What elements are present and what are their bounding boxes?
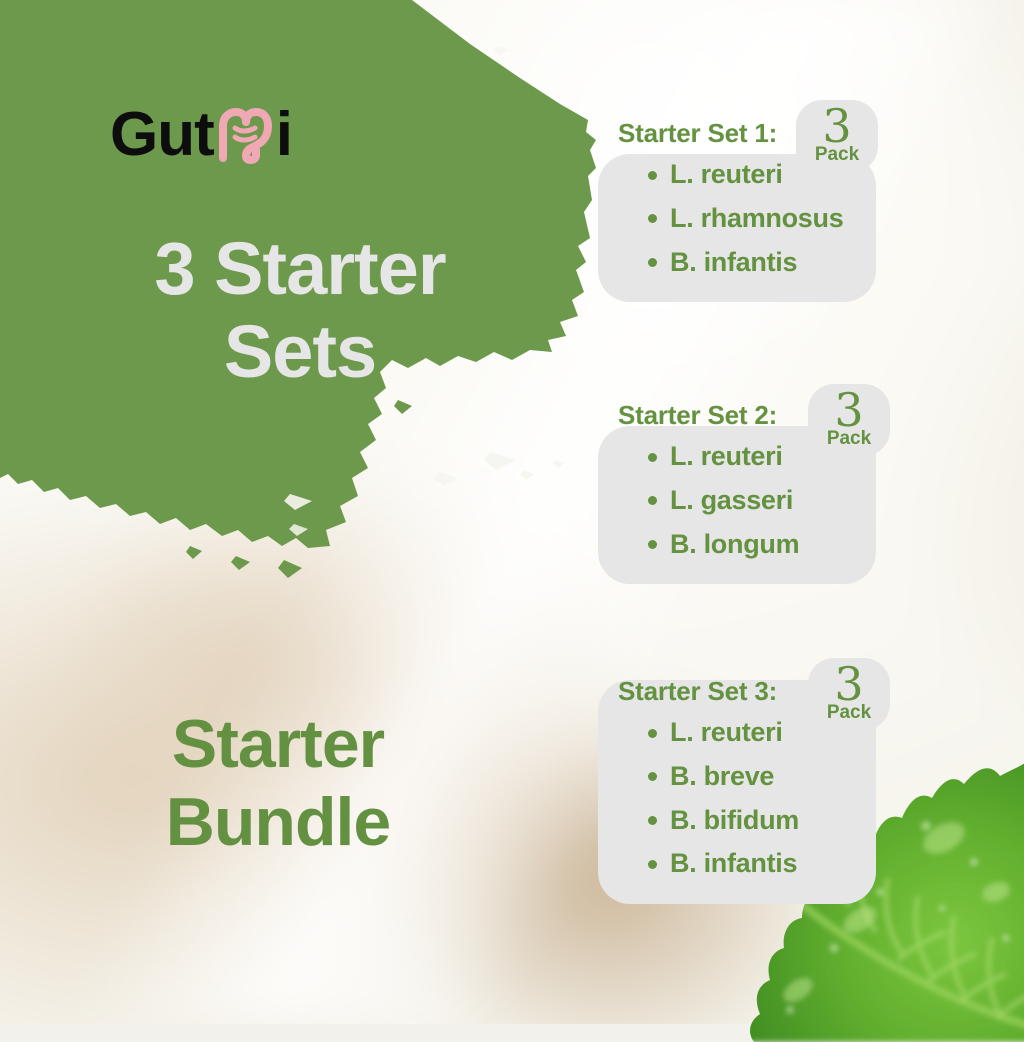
bullet-icon bbox=[648, 214, 657, 223]
bundle-headline: Starter Bundle bbox=[38, 706, 518, 861]
strain-name: B. bifidum bbox=[670, 799, 799, 843]
pack-badge: 3 Pack bbox=[808, 384, 890, 456]
pack-badge-label: Pack bbox=[808, 703, 890, 724]
hero-headline: 3 Starter Sets bbox=[40, 228, 560, 394]
bullet-icon bbox=[648, 860, 657, 869]
strain-name: L. rhamnosus bbox=[670, 197, 843, 241]
list-item: B. infantis bbox=[614, 241, 860, 285]
pack-badge-label: Pack bbox=[808, 429, 890, 450]
bullet-icon bbox=[648, 453, 657, 462]
strain-name: B. infantis bbox=[670, 241, 797, 285]
bullet-icon bbox=[648, 729, 657, 738]
hero-line-2: Sets bbox=[40, 311, 560, 394]
starter-set-card[interactable]: 3 Pack Starter Set 3: L. reuteri B. brev… bbox=[598, 660, 876, 904]
starter-set-card[interactable]: 3 Pack Starter Set 1: L. reuteri L. rham… bbox=[598, 106, 876, 302]
strain-list: L. reuteri B. breve B. bifidum B. infant… bbox=[614, 711, 860, 886]
intestine-icon bbox=[215, 106, 275, 164]
pack-badge: 3 Pack bbox=[796, 100, 878, 172]
list-item: L. rhamnosus bbox=[614, 197, 860, 241]
strain-name: L. reuteri bbox=[670, 711, 783, 755]
bundle-line-2: Bundle bbox=[38, 784, 518, 862]
list-item: B. breve bbox=[614, 755, 860, 799]
bullet-icon bbox=[648, 171, 657, 180]
list-item: B. infantis bbox=[614, 842, 860, 886]
strain-list: L. reuteri L. rhamnosus B. infantis bbox=[614, 153, 860, 284]
list-item: B. bifidum bbox=[614, 799, 860, 843]
card-body: Starter Set 1: L. reuteri L. rhamnosus B… bbox=[598, 154, 876, 302]
strain-name: L. reuteri bbox=[670, 153, 783, 197]
starter-set-card[interactable]: 3 Pack Starter Set 2: L. reuteri L. gass… bbox=[598, 384, 876, 584]
bullet-icon bbox=[648, 772, 657, 781]
hero-line-1: 3 Starter bbox=[40, 228, 560, 311]
strain-name: L. reuteri bbox=[670, 435, 783, 479]
pack-badge: 3 Pack bbox=[808, 658, 890, 730]
brand-logo[interactable]: Gut i bbox=[110, 104, 292, 166]
strain-name: B. breve bbox=[670, 755, 774, 799]
pack-badge-number: 3 bbox=[808, 664, 890, 704]
pack-badge-label: Pack bbox=[796, 145, 878, 166]
list-item: L. gasseri bbox=[614, 479, 860, 523]
bullet-icon bbox=[648, 258, 657, 267]
strain-name: B. longum bbox=[670, 523, 799, 567]
bundle-line-1: Starter bbox=[38, 706, 518, 784]
bullet-icon bbox=[648, 496, 657, 505]
logo-text-gut: Gut bbox=[110, 104, 214, 166]
strain-name: L. gasseri bbox=[670, 479, 793, 523]
list-item: B. longum bbox=[614, 523, 860, 567]
strain-name: B. infantis bbox=[670, 842, 797, 886]
bullet-icon bbox=[648, 816, 657, 825]
pack-badge-number: 3 bbox=[808, 390, 890, 430]
pack-badge-number: 3 bbox=[796, 106, 878, 146]
bullet-icon bbox=[648, 540, 657, 549]
logo-text-i: i bbox=[276, 104, 292, 166]
